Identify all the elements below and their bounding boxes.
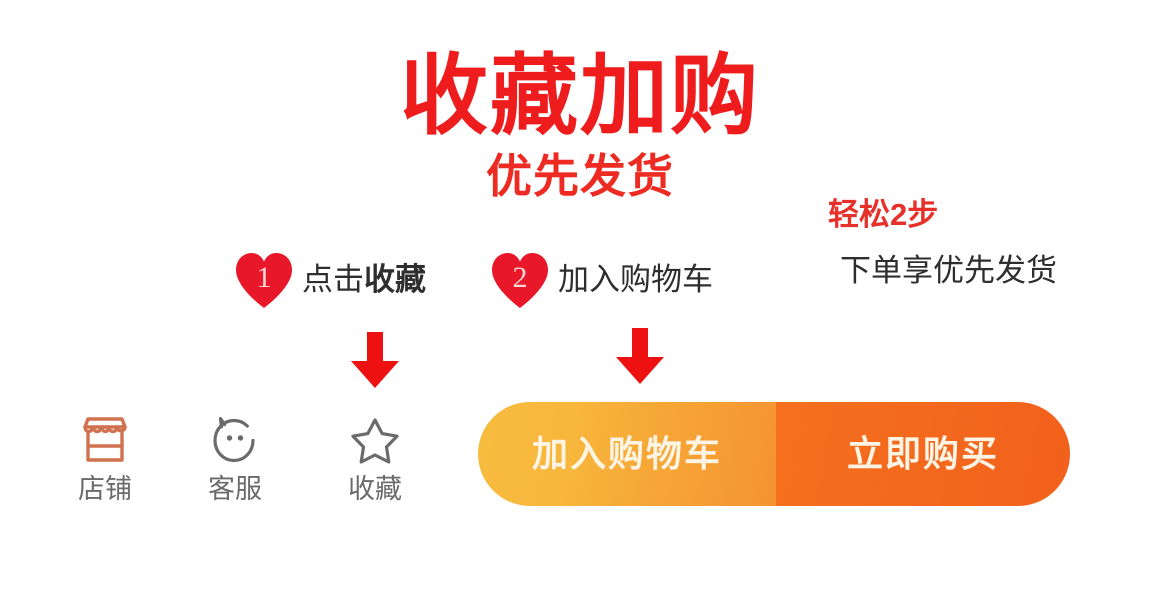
step-2-label-bold: 购物车 [620,262,713,297]
step-2-label-thin: 加入 [558,262,620,297]
step-2: 2 加入购物车 [490,252,713,310]
buy-now-button[interactable]: 立即购买 [776,402,1070,506]
page-subtitle: 优先发货 [0,150,1170,202]
page-title: 收藏加购 [0,48,1170,144]
step-number: 2 [490,252,550,310]
add-to-cart-label: 加入购物车 [532,434,722,474]
bottom-icon-bar: 店铺 客服 收藏 [0,412,470,522]
shop-icon[interactable] [50,412,160,468]
step-1-label: 点击收藏 [302,263,426,299]
promo-title: 轻松2步 [828,196,1057,234]
arrow-down-icon [614,328,666,384]
service-icon[interactable] [180,412,290,468]
buy-now-label: 立即购买 [847,434,999,474]
shop-caption: 店铺 [50,474,160,504]
step-1-label-bold: 收藏 [364,262,426,297]
icon-cell-favorite[interactable]: 收藏 [320,412,430,504]
promo-subtitle: 下单享优先发货 [840,252,1057,290]
promo-block: 轻松2步 下单享优先发货 [828,196,1057,290]
step-1: 1 点击收藏 [234,252,426,310]
favorite-caption: 收藏 [320,474,430,504]
step-1-label-thin: 点击 [302,262,364,297]
step-number: 1 [234,252,294,310]
arrow-down-icon [349,332,401,388]
heart-icon: 2 [490,252,550,310]
headline-block: 收藏加购 优先发货 [0,48,1170,202]
heart-icon: 1 [234,252,294,310]
icon-cell-service[interactable]: 客服 [180,412,290,504]
icon-cell-shop[interactable]: 店铺 [50,412,160,504]
step-2-label: 加入购物车 [558,263,713,299]
service-caption: 客服 [180,474,290,504]
cta-button-group[interactable]: 加入购物车 立即购买 [478,402,1070,506]
promo-banner: 收藏加购 优先发货 1 点击收藏 2 加入购物车 轻松2步 下单享优先发货 [0,0,1170,590]
add-to-cart-button[interactable]: 加入购物车 [478,402,776,506]
star-icon[interactable] [320,412,430,468]
